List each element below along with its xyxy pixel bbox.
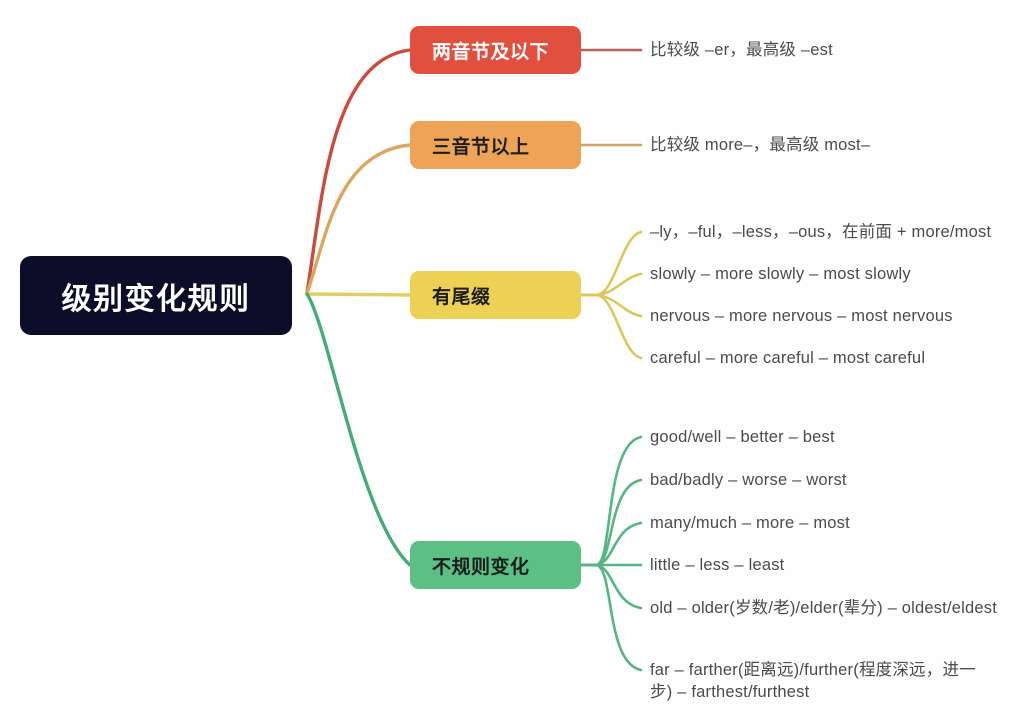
leaf-irregular-5: old – older(岁数/老)/elder(辈分) – oldest/eld… — [650, 597, 998, 619]
leaf-with-suffix-3: nervous – more nervous – most nervous — [650, 305, 953, 327]
leaf-irregular-6: far – farther(距离远)/further(程度深远，进一步) – f… — [650, 659, 998, 703]
branch-node-irregular[interactable]: 不规则变化 — [410, 541, 581, 589]
mind-map-canvas: 级别变化规则 两音节及以下 三音节以上 有尾缀 不规则变化 比较级 –er，最高… — [0, 0, 1024, 728]
branch-label-two-syllable: 两音节及以下 — [432, 37, 549, 64]
leaf-with-suffix-2: slowly – more slowly – most slowly — [650, 263, 911, 285]
leaf-with-suffix-1: –ly，–ful，–less，–ous，在前面 + more/most — [650, 221, 991, 243]
root-node-label: 级别变化规则 — [62, 274, 251, 318]
root-node[interactable]: 级别变化规则 — [20, 256, 292, 335]
branch-node-three-syllable[interactable]: 三音节以上 — [410, 121, 581, 169]
branch-label-irregular: 不规则变化 — [432, 552, 530, 579]
branch-label-with-suffix: 有尾缀 — [432, 282, 491, 309]
leaf-with-suffix-4: careful – more careful – most careful — [650, 347, 925, 369]
leaf-irregular-4: little – less – least — [650, 554, 784, 576]
node-layer: 级别变化规则 两音节及以下 三音节以上 有尾缀 不规则变化 比较级 –er，最高… — [0, 0, 1024, 728]
leaf-irregular-3: many/much – more – most — [650, 512, 850, 534]
leaf-three-syllable-1: 比较级 more–，最高级 most– — [650, 134, 870, 156]
leaf-irregular-2: bad/badly – worse – worst — [650, 469, 847, 491]
branch-node-two-syllable[interactable]: 两音节及以下 — [410, 26, 581, 74]
leaf-irregular-1: good/well – better – best — [650, 426, 835, 448]
branch-node-with-suffix[interactable]: 有尾缀 — [410, 271, 581, 319]
branch-label-three-syllable: 三音节以上 — [432, 132, 530, 159]
leaf-two-syllable-1: 比较级 –er，最高级 –est — [650, 39, 833, 61]
